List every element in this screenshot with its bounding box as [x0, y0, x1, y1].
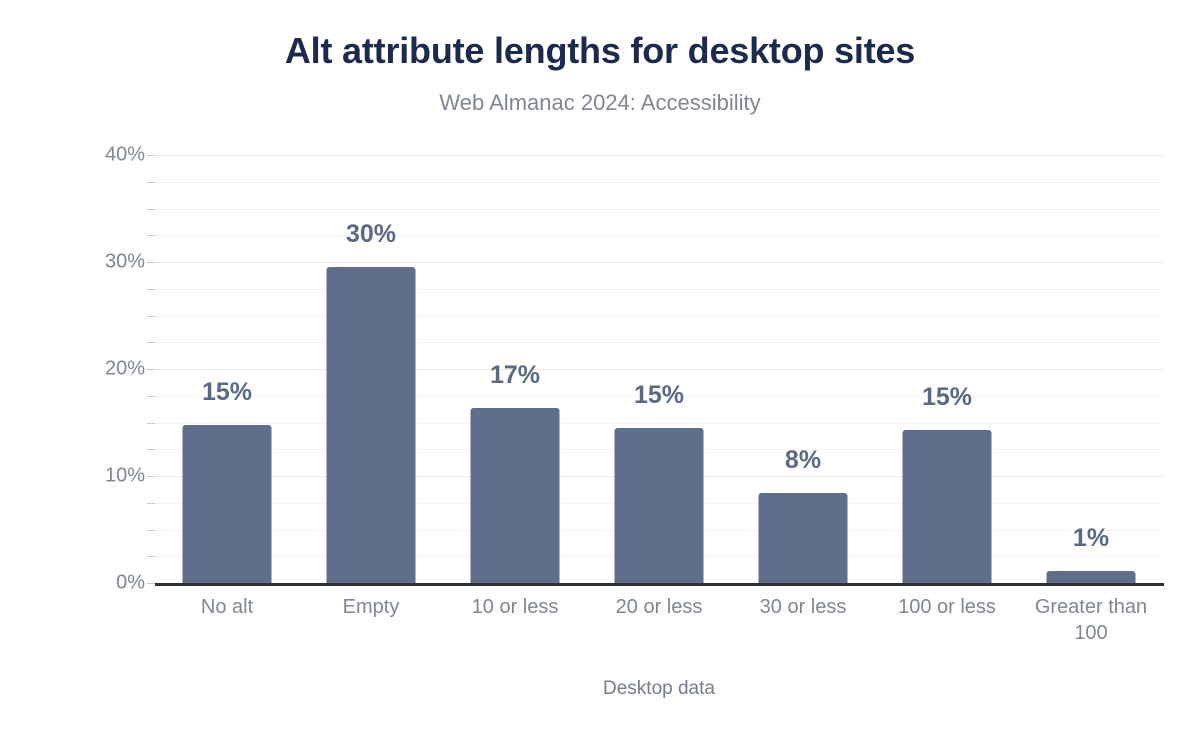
bar-value-label: 1% — [1073, 524, 1109, 553]
y-axis-tick-mark — [147, 396, 155, 397]
x-axis-title: Desktop data — [155, 678, 1163, 700]
y-axis-tick-mark — [147, 262, 155, 263]
y-axis-tick-mark — [147, 316, 155, 317]
bar-group[interactable]: 17% — [443, 155, 587, 583]
bar[interactable] — [1047, 571, 1136, 583]
bar[interactable] — [183, 425, 272, 583]
y-axis-tick-mark — [147, 530, 155, 531]
x-axis-line — [155, 583, 1164, 586]
y-axis-tick-mark — [147, 449, 155, 450]
bar-value-label: 15% — [922, 383, 972, 412]
y-axis-tick-label: 0% — [25, 572, 145, 595]
bar-group[interactable]: 8% — [731, 155, 875, 583]
x-axis-tick-label: 20 or less — [587, 594, 731, 620]
bar-group[interactable]: 15% — [875, 155, 1019, 583]
y-axis-tick-mark — [147, 182, 155, 183]
bar-series: 15%30%17%15%8%15%1% — [155, 155, 1163, 583]
bar-group[interactable]: 15% — [155, 155, 299, 583]
x-axis-tick-label: 100 or less — [875, 594, 1019, 620]
x-axis-tick-label: 10 or less — [443, 594, 587, 620]
y-axis-tick-mark — [147, 423, 155, 424]
x-axis-tick-label: Greater than 100 — [1019, 594, 1163, 646]
y-axis-tick-mark — [147, 209, 155, 210]
y-axis-tick-mark — [147, 155, 155, 156]
bar-value-label: 15% — [202, 378, 252, 407]
y-axis-tick-mark — [147, 289, 155, 290]
x-axis-tick-label: No alt — [155, 594, 299, 620]
y-axis-tick-label: 20% — [25, 358, 145, 381]
bar-group[interactable]: 1% — [1019, 155, 1163, 583]
y-axis-tick-mark — [147, 235, 155, 236]
bar-group[interactable]: 15% — [587, 155, 731, 583]
y-axis-tick-label: 30% — [25, 251, 145, 274]
y-axis-tick-mark — [147, 342, 155, 343]
y-axis-tick-label: 10% — [25, 465, 145, 488]
y-axis-tick-mark — [147, 556, 155, 557]
bar-value-label: 15% — [634, 381, 684, 410]
x-axis-tick-label: Empty — [299, 594, 443, 620]
bar[interactable] — [903, 430, 992, 583]
bar-value-label: 30% — [346, 220, 396, 249]
bar[interactable] — [327, 267, 416, 583]
bar-value-label: 17% — [490, 361, 540, 390]
bar-group[interactable]: 30% — [299, 155, 443, 583]
x-axis-tick-label: 30 or less — [731, 594, 875, 620]
bar[interactable] — [615, 428, 704, 583]
y-axis-tick-mark — [147, 369, 155, 370]
y-axis-tick-label: 40% — [25, 144, 145, 167]
chart-title: Alt attribute lengths for desktop sites — [0, 30, 1200, 72]
bar-chart: Alt attribute lengths for desktop sites … — [0, 0, 1200, 742]
bar[interactable] — [471, 408, 560, 583]
bar[interactable] — [759, 493, 848, 583]
y-axis-tick-mark — [147, 476, 155, 477]
bar-value-label: 8% — [785, 446, 821, 475]
y-axis-tick-mark — [147, 583, 155, 584]
y-axis-tick-mark — [147, 503, 155, 504]
chart-subtitle: Web Almanac 2024: Accessibility — [0, 90, 1200, 116]
